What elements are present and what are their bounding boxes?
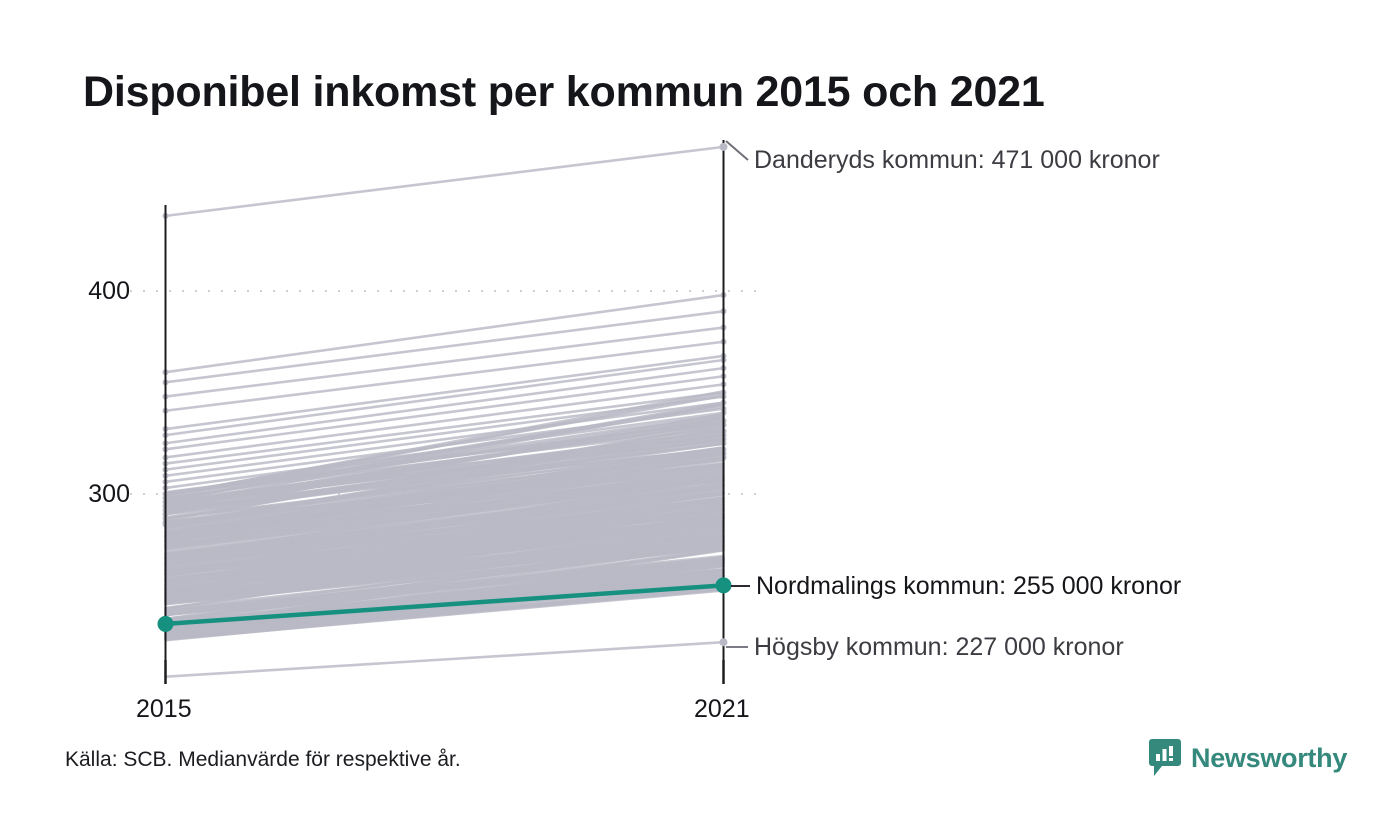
highlight-point-start[interactable] <box>158 616 174 632</box>
slope-lines-group <box>163 144 727 677</box>
annotation-point-danderyd <box>720 143 728 151</box>
slope-line <box>166 342 724 411</box>
logo-text: Newsworthy <box>1191 745 1347 772</box>
annotation-leader-lines <box>726 141 750 647</box>
annotation-label-hogsby: Högsby kommun: 227 000 kronor <box>754 633 1124 662</box>
slope-line <box>166 642 724 677</box>
slope-line <box>166 295 724 372</box>
annotation-point-hogsby <box>720 638 728 646</box>
annotation-label-nordmaling: Nordmalings kommun: 255 000 kronor <box>756 572 1181 601</box>
newsworthy-bar-bubble-icon <box>1148 738 1182 778</box>
y-tick-label-400: 400 <box>60 277 130 306</box>
highlight-point-end[interactable] <box>716 577 732 593</box>
chart-page: Disponibel inkomst per kommun 2015 och 2… <box>0 0 1400 840</box>
source-note: Källa: SCB. Medianvärde för respektive å… <box>65 748 461 772</box>
slope-line <box>166 147 724 216</box>
x-tick-label-2021: 2021 <box>694 695 750 724</box>
x-tick-label-2015: 2015 <box>136 695 192 724</box>
newsworthy-logo[interactable]: Newsworthy <box>1148 738 1347 778</box>
y-tick-label-300: 300 <box>60 480 130 509</box>
annotation-label-danderyd: Danderyds kommun: 471 000 kronor <box>754 146 1160 175</box>
leader-line-danderyd <box>726 141 748 160</box>
